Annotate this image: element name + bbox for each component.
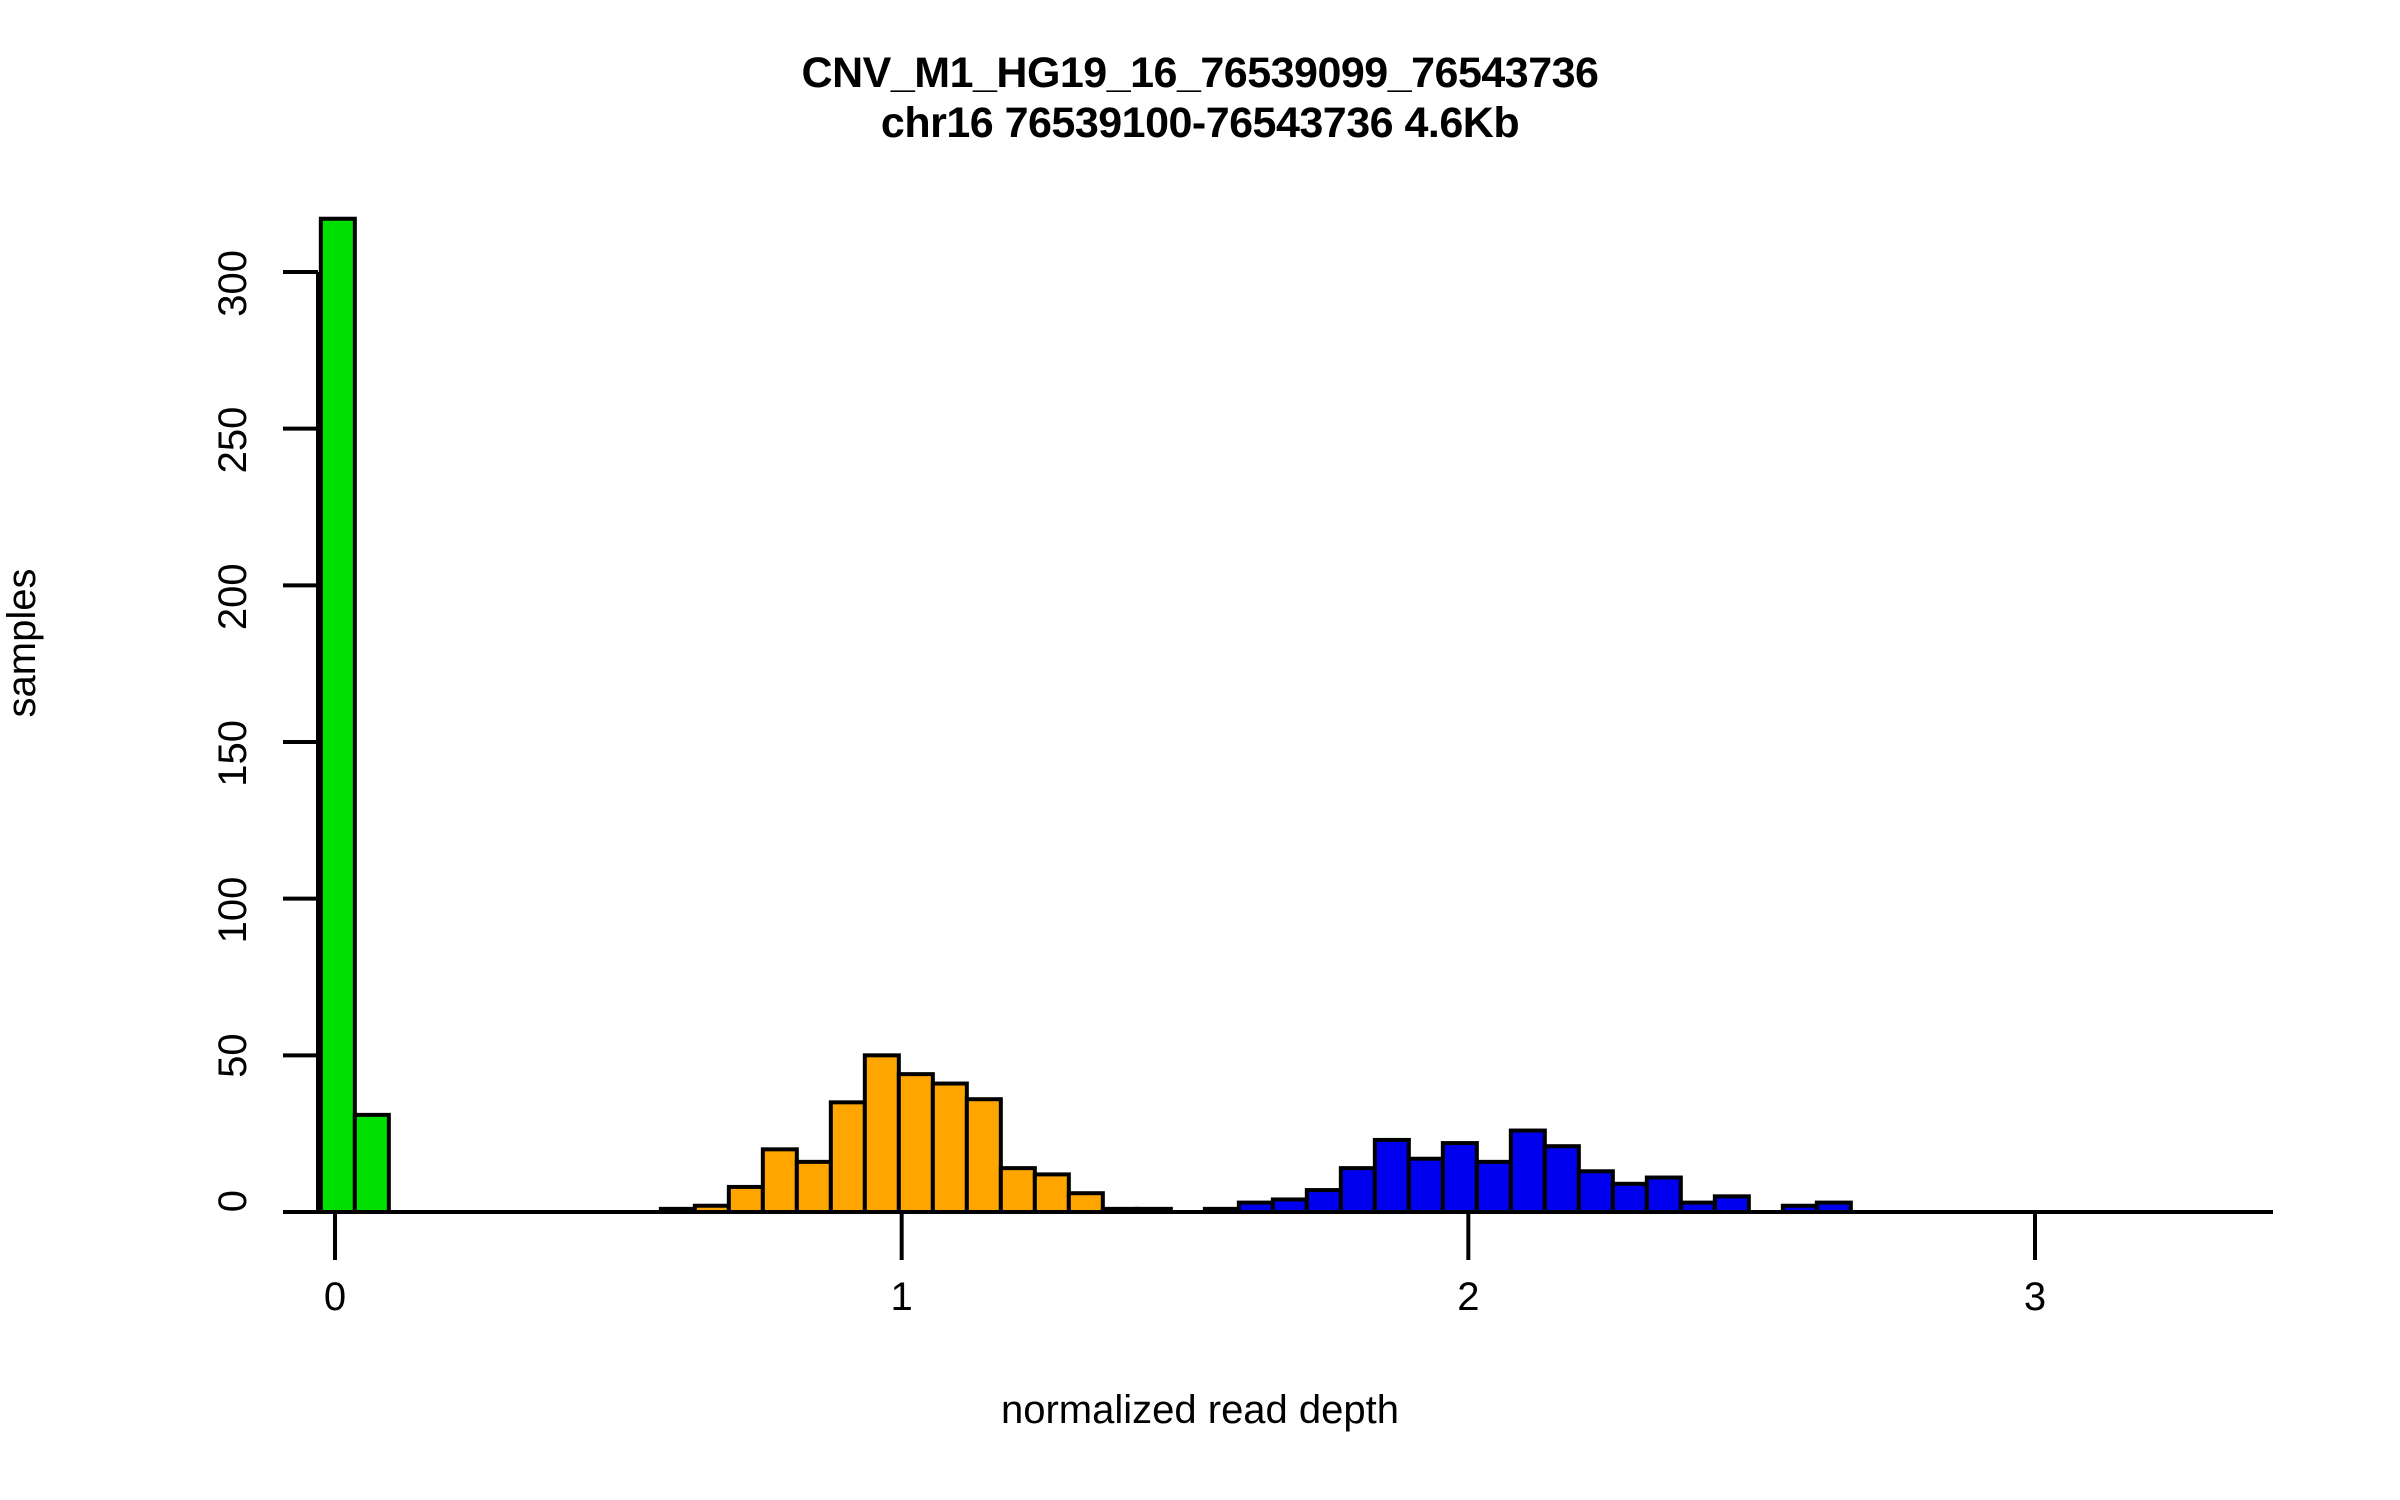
histogram-bar <box>1443 1143 1477 1212</box>
histogram-bar <box>729 1187 763 1212</box>
histogram-bar <box>1307 1190 1341 1212</box>
histogram-bar <box>1545 1146 1579 1212</box>
histogram-bar <box>899 1074 933 1212</box>
histogram-bar <box>933 1084 967 1212</box>
histogram-bar <box>1069 1193 1103 1212</box>
histogram-bar <box>1613 1184 1647 1212</box>
histogram-bar <box>1511 1131 1545 1212</box>
x-axis-tick-label: 0 <box>275 1275 395 1320</box>
histogram-bar <box>865 1055 899 1212</box>
histogram-plot: CNV_M1_HG19_16_76539099_76543736 chr16 7… <box>0 0 2400 1500</box>
axis-layer <box>283 272 2273 1260</box>
x-axis-tick-label: 2 <box>1408 1275 1528 1320</box>
histogram-bar <box>967 1099 1001 1212</box>
histogram-bar <box>1647 1178 1681 1212</box>
histogram-bar <box>1715 1196 1749 1212</box>
histogram-bar <box>763 1149 797 1212</box>
histogram-bar <box>1035 1174 1069 1212</box>
histogram-bar <box>1579 1171 1613 1212</box>
histogram-bar <box>1409 1159 1443 1212</box>
histogram-bar <box>321 219 355 1212</box>
histogram-bar <box>797 1162 831 1212</box>
histogram-bar <box>1477 1162 1511 1212</box>
histogram-bar <box>831 1102 865 1212</box>
histogram-bar <box>1375 1140 1409 1212</box>
x-axis-tick-label: 1 <box>842 1275 962 1320</box>
histogram-bar <box>355 1115 389 1212</box>
y-axis-tick-label: 300 <box>211 250 256 450</box>
histogram-bar <box>1341 1168 1375 1212</box>
histogram-bar <box>1001 1168 1035 1212</box>
bars-layer <box>321 219 1851 1212</box>
x-axis-tick-label: 3 <box>1975 1275 2095 1320</box>
